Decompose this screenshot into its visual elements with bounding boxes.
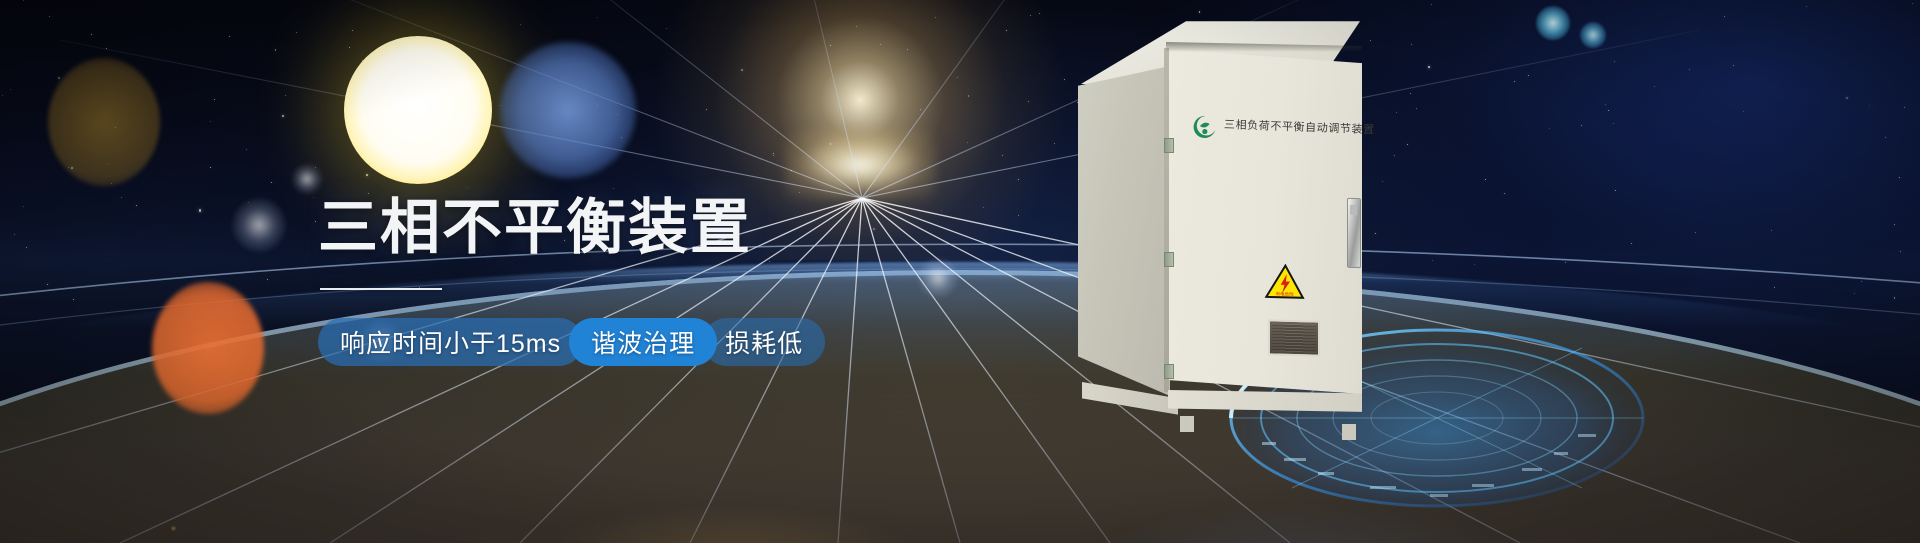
sunburst-core: [785, 130, 935, 200]
cabinet-base-front: [1168, 390, 1362, 432]
ventilation-grille-icon: [1268, 319, 1320, 356]
cabinet-leg-right: [1342, 424, 1356, 440]
feature-tag-low-loss[interactable]: 损耗低: [703, 318, 825, 366]
cabinet-door-edge: [1164, 48, 1169, 392]
cabinet-hinge-bottom: [1164, 364, 1174, 379]
hero-banner: 三相负荷不平衡自动调节装置 有电危险 三相不平衡装置 响应时间小于15ms 谐波…: [0, 0, 1920, 543]
cabinet-front-door: [1166, 42, 1362, 394]
cabinet-hinge-mid: [1164, 252, 1174, 267]
feature-tag-response-time[interactable]: 响应时间小于15ms: [318, 318, 583, 366]
door-handle-icon: [1347, 198, 1361, 268]
page-title: 三相不平衡装置: [318, 196, 938, 260]
cabinet-side-panel: [1078, 66, 1170, 396]
high-voltage-warning-icon: 有电危险: [1265, 263, 1306, 299]
product-cabinet: 三相负荷不平衡自动调节装置 有电危险: [1060, 20, 1460, 450]
feature-tag-list: 响应时间小于15ms 谐波治理 损耗低: [318, 318, 938, 366]
banner-copy: 三相不平衡装置 响应时间小于15ms 谐波治理 损耗低: [318, 196, 938, 366]
cabinet-hinge-top: [1164, 138, 1174, 153]
cabinet-leg-left: [1180, 416, 1194, 432]
feature-tag-harmonic[interactable]: 谐波治理: [569, 318, 717, 366]
title-divider: [320, 288, 442, 290]
leaf-circle-logo-icon: [1192, 114, 1219, 141]
